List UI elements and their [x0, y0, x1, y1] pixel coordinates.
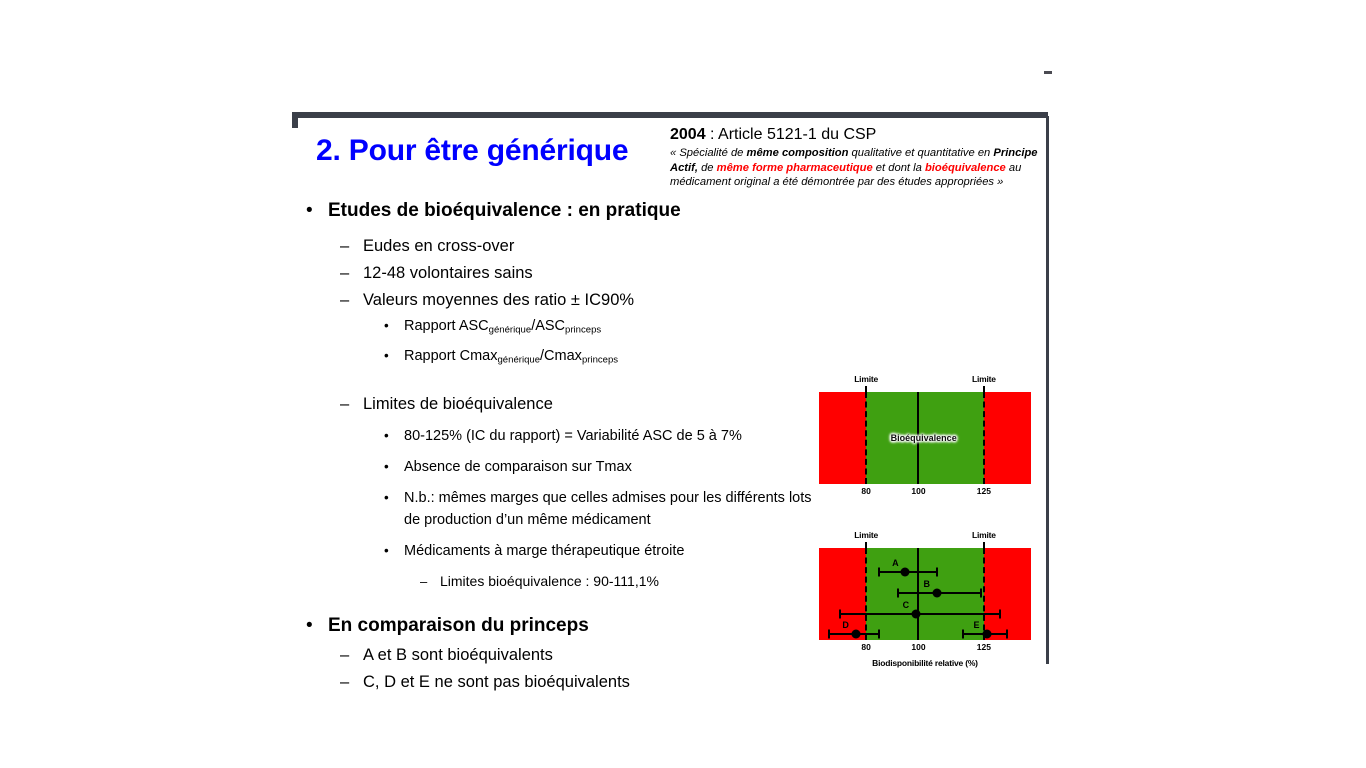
axis-tick-label: 80 [861, 486, 870, 496]
bullet-round-icon: • [384, 345, 404, 367]
citation-t5: Actif, [670, 162, 698, 174]
bullet-round-icon: • [384, 540, 404, 562]
center-line [917, 548, 919, 640]
chart2-limit-labels: LimiteLimite [819, 530, 1031, 548]
confidence-interval-cap [897, 589, 899, 598]
data-point-label-B: B [924, 579, 931, 589]
data-point-B [932, 589, 941, 598]
dash-icon: – [340, 670, 363, 694]
data-point-label-D: D [842, 620, 849, 630]
bioequivalence-zone [866, 548, 984, 640]
list-item-label: 12-48 volontaires sains [363, 261, 533, 285]
dash-icon: – [340, 288, 363, 312]
dash-icon: – [420, 571, 440, 592]
confidence-interval-cap [999, 610, 1001, 619]
citation-heading: 2004 : Article 5121-1 du CSP [670, 125, 1048, 144]
data-point-E [982, 630, 991, 639]
data-point-label-A: A [892, 558, 899, 568]
slide-title: 2. Pour être générique [316, 134, 628, 168]
ratio-denominator-sub: princeps [582, 354, 618, 365]
citation-heading-rest: : Article 5121-1 du CSP [706, 126, 877, 143]
chart2-x-axis: 80100125 [819, 640, 1031, 655]
spacer [292, 374, 832, 392]
ratio-numerator-sub: générique [497, 354, 540, 365]
list-item-label: Absence de comparaison sur Tmax [404, 456, 632, 478]
limit-label: Limite [854, 530, 878, 540]
citation-t11: médicament original a été démontrée par … [670, 176, 1003, 188]
axis-tick-label: 80 [861, 642, 870, 652]
list-item-valeurs-moyennes: – Valeurs moyennes des ratio ± IC90% [340, 288, 832, 312]
section-heading-label: En comparaison du princeps [328, 613, 589, 639]
axis-tick-label: 100 [911, 486, 925, 496]
bullet-en-comparaison-princeps: • En comparaison du princeps [306, 613, 832, 639]
list-item-limites-90-111: – Limites bioéquivalence : 90-111,1% [420, 571, 832, 592]
limit-dashed-line [865, 392, 867, 484]
data-point-A [901, 568, 910, 577]
list-item-limites-bioequivalence: – Limites de bioéquivalence [340, 392, 832, 416]
confidence-interval-cap [878, 630, 880, 639]
list-item-marge-therapeutique: • Médicaments à marge thérapeutique étro… [384, 540, 832, 562]
list-item-label: A et B sont bioéquivalents [363, 643, 553, 667]
chart1-plot-area: Bioéquivalence [819, 392, 1031, 484]
limit-dashed-line [865, 548, 867, 640]
slide-frame: 2. Pour être générique 2004 : Article 51… [292, 112, 1050, 664]
bullet-round-icon: • [384, 456, 404, 478]
list-item-label: N.b.: mêmes marges que celles admises po… [404, 487, 822, 531]
citation-body: « Spécialité de même composition qualita… [670, 146, 1048, 190]
ratio-denominator: /Cmax [540, 348, 582, 364]
citation-year: 2004 [670, 126, 706, 143]
list-item-nb-marges: • N.b.: mêmes marges que celles admises … [384, 487, 832, 531]
ratio-denominator-sub: princeps [565, 325, 601, 336]
limit-label: Limite [972, 530, 996, 540]
limit-dashed-line [983, 548, 985, 640]
list-item-ab-bioequivalents: – A et B sont bioéquivalents [340, 643, 832, 667]
axis-tick-label: 125 [977, 642, 991, 652]
list-item-label: C, D et E ne sont pas bioéquivalents [363, 670, 630, 694]
list-item-label: 80-125% (IC du rapport) = Variabilité AS… [404, 425, 742, 447]
citation-t2: même composition [747, 147, 849, 159]
chart1-limit-labels: LimiteLimite [819, 374, 1031, 392]
data-point-label-E: E [973, 620, 979, 630]
dash-icon: – [340, 261, 363, 285]
list-item-absence-tmax: • Absence de comparaison sur Tmax [384, 456, 832, 478]
citation-t9: bioéquivalence [925, 162, 1006, 174]
data-point-label-C: C [903, 600, 910, 610]
bullet-round-icon: • [306, 198, 328, 224]
bioequivalence-label: Bioéquivalence [891, 433, 957, 443]
section-heading-label: Etudes de bioéquivalence : en pratique [328, 198, 681, 224]
confidence-interval-cap [962, 630, 964, 639]
chart2-x-axis-label: Biodisponibilité relative (%) [819, 658, 1031, 668]
frame-top-border [292, 112, 1048, 118]
list-item-label: Rapport Cmaxgénérique/Cmaxprinceps [404, 345, 618, 372]
chart1-x-axis: 80100125 [819, 484, 1031, 499]
bullet-round-icon: • [306, 613, 328, 639]
list-item-label: Médicaments à marge thérapeutique étroit… [404, 540, 685, 562]
chart-bioequivalence-band: LimiteLimite Bioéquivalence 80100125 [819, 374, 1031, 499]
confidence-interval-cap [828, 630, 830, 639]
citation-t6: de [698, 162, 717, 174]
list-item-cde-non-bioequivalents: – C, D et E ne sont pas bioéquivalents [340, 670, 832, 694]
data-point-D [851, 630, 860, 639]
confidence-interval-cap [878, 568, 880, 577]
citation-t4: Principe [993, 147, 1037, 159]
list-item-cross-over: – Eudes en cross-over [340, 234, 832, 258]
dash-icon: – [340, 234, 363, 258]
confidence-interval-cap [980, 589, 982, 598]
citation-t8: et dont la [873, 162, 925, 174]
spacer [292, 595, 832, 613]
ratio-numerator: Rapport ASC [404, 318, 489, 334]
citation-t10: au [1006, 162, 1022, 174]
slide-body: • Etudes de bioéquivalence : en pratique… [292, 198, 832, 697]
citation-t3: qualitative et quantitative en [848, 147, 993, 159]
list-item-volontaires: – 12-48 volontaires sains [340, 261, 832, 285]
list-item-80-125: • 80-125% (IC du rapport) = Variabilité … [384, 425, 832, 447]
bullet-round-icon: • [384, 425, 404, 447]
axis-tick-label: 100 [911, 642, 925, 652]
list-item-rapport-cmax: • Rapport Cmaxgénérique/Cmaxprinceps [384, 345, 832, 372]
list-item-rapport-asc: • Rapport ASCgénérique/ASCprinceps [384, 315, 832, 342]
frame-right-border [1046, 116, 1049, 664]
frame-left-border [292, 112, 298, 128]
ratio-numerator-sub: générique [489, 325, 532, 336]
bullet-round-icon: • [384, 487, 404, 509]
axis-tick-label: 125 [977, 486, 991, 496]
list-item-label: Eudes en cross-over [363, 234, 514, 258]
citation-t7: même forme pharmaceutique [717, 162, 873, 174]
top-marker [1044, 71, 1052, 74]
list-item-label: Valeurs moyennes des ratio ± IC90% [363, 288, 634, 312]
dash-icon: – [340, 392, 363, 416]
chart-relative-bioavailability: LimiteLimite ABCDE 80100125 Biodisponibi… [819, 530, 1031, 668]
confidence-interval-cap [839, 610, 841, 619]
list-item-label: Rapport ASCgénérique/ASCprinceps [404, 315, 601, 342]
confidence-interval-cap [936, 568, 938, 577]
chart2-plot-area: ABCDE [819, 548, 1031, 640]
limit-dashed-line [983, 392, 985, 484]
data-point-C [911, 610, 920, 619]
citation-t1: « Spécialité de [670, 147, 747, 159]
bullet-etudes-bioequivalence: • Etudes de bioéquivalence : en pratique [306, 198, 832, 224]
ratio-denominator: /ASC [531, 318, 565, 334]
confidence-interval-cap [1006, 630, 1008, 639]
list-item-label: Limites de bioéquivalence [363, 392, 553, 416]
limit-label: Limite [972, 374, 996, 384]
ratio-numerator: Rapport Cmax [404, 348, 497, 364]
limit-label: Limite [854, 374, 878, 384]
citation-block: 2004 : Article 5121-1 du CSP « Spécialit… [670, 125, 1048, 190]
dash-icon: – [340, 643, 363, 667]
bullet-round-icon: • [384, 315, 404, 337]
list-item-label: Limites bioéquivalence : 90-111,1% [440, 571, 659, 592]
